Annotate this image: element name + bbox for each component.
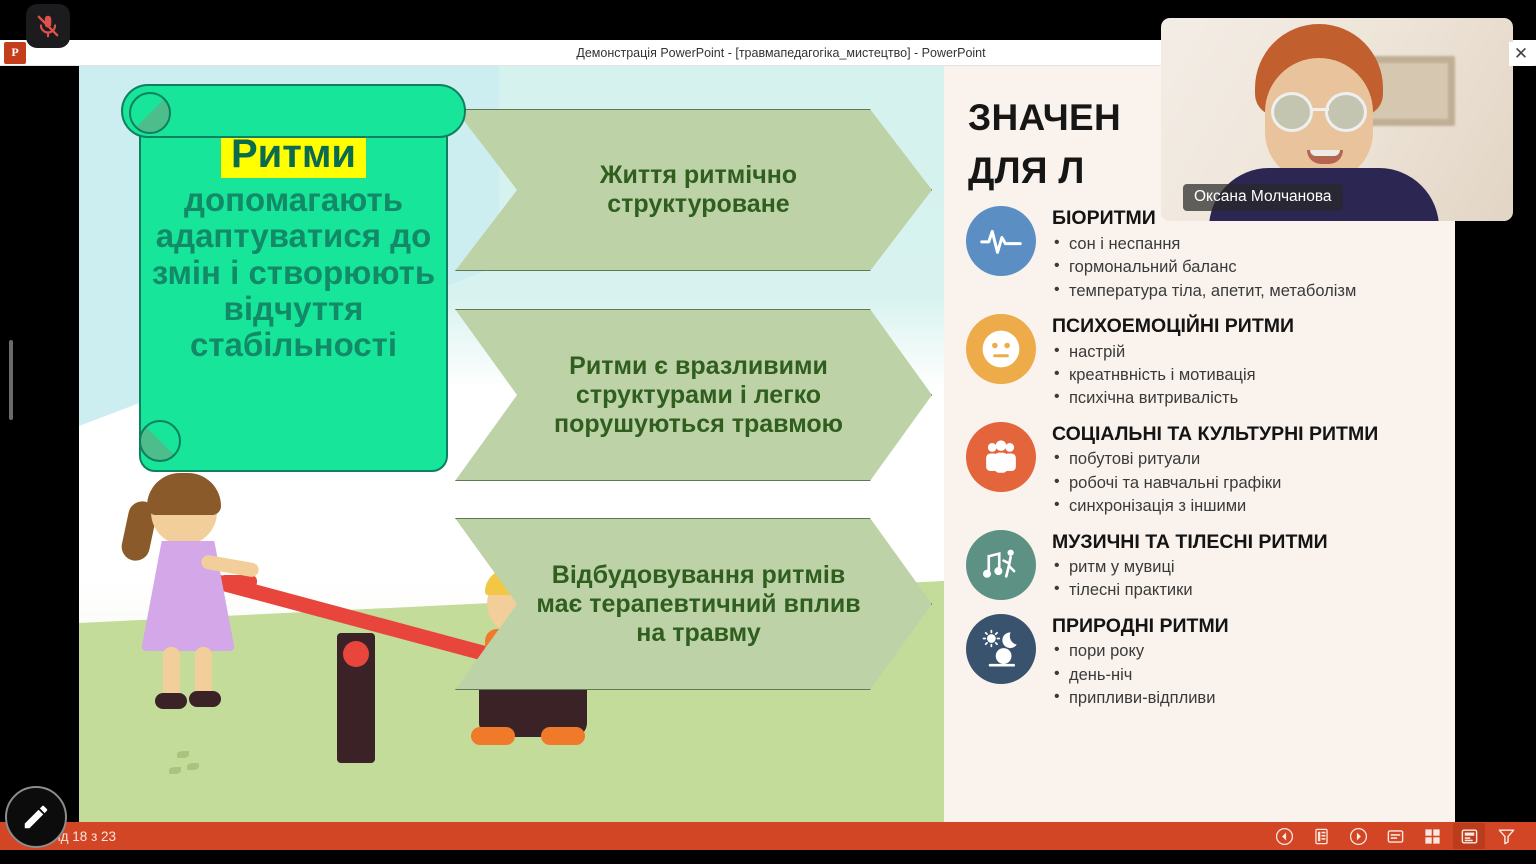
people-group-icon (966, 422, 1036, 492)
infographic-bullet: пори року (1052, 640, 1229, 663)
pen-menu-icon[interactable] (1305, 823, 1337, 849)
infographic-item-bioritmy: БІОРИТМИ сон і неспання гормональний бал… (944, 206, 1455, 314)
seesaw-pivot (343, 641, 369, 667)
infographic-bullet: тілесні практики (1052, 579, 1328, 602)
scroll-banner: Ритми допомагають адаптуватися до змін і… (121, 84, 466, 484)
previous-slide-button[interactable] (1268, 823, 1300, 849)
infographic-heading: МУЗИЧНІ ТА ТІЛЕСНІ РИТМИ (1052, 532, 1328, 553)
powerpoint-icon: P (4, 42, 26, 64)
participant-teeth (1310, 150, 1340, 156)
infographic-bullet: настрій (1052, 341, 1294, 364)
neutral-face-icon (966, 314, 1036, 384)
infographic-items: БІОРИТМИ сон і неспання гормональний бал… (944, 206, 1455, 721)
participant-name-label: Оксана Молчанова (1183, 184, 1343, 211)
infographic-item-social-cultural: СОЦІАЛЬНІ ТА КУЛЬТУРНІ РИТМИ побутові ри… (944, 422, 1455, 530)
chevron-arrow-3: Відбудовування ритмів має терапевтичний … (455, 518, 932, 690)
infographic-item-psychoemotional: ПСИХОЕМОЦІЙНІ РИТМИ настрій креатнвність… (944, 314, 1455, 422)
boy-shoe (541, 727, 585, 745)
microphone-muted-icon[interactable] (26, 4, 70, 48)
infographic-bullet: припливи-відпливи (1052, 687, 1229, 710)
chevron-arrow-2-text: Ритми є вразливими структурами і легко п… (536, 352, 861, 439)
magnify-slide-icon[interactable] (1453, 823, 1485, 849)
leaf-decoration (169, 767, 181, 774)
girl-leg (163, 647, 180, 699)
music-dance-icon (966, 530, 1036, 600)
infographic-heading: СОЦІАЛЬНІ ТА КУЛЬТУРНІ РИТМИ (1052, 424, 1378, 445)
girl-shoe (189, 691, 221, 707)
infographic-bullet: день-ніч (1052, 664, 1229, 687)
screen-root: P Демонстрація PowerPoint - [травмапедаг… (0, 0, 1536, 864)
scroll-banner-title: Ритми (221, 132, 366, 178)
infographic-bullet: синхронізація з іншими (1052, 495, 1378, 518)
slide-left-area: Життя ритмічно структуроване Ритми є вра… (79, 66, 944, 836)
infographic-bullet: ритм у мувиці (1052, 556, 1328, 579)
infographic-heading: ПСИХОЕМОЦІЙНІ РИТМИ (1052, 316, 1294, 337)
infographic-item-music-body: МУЗИЧНІ ТА ТІЛЕСНІ РИТМИ ритм у мувиці т… (944, 530, 1455, 614)
more-options-icon[interactable] (1490, 823, 1522, 849)
participant-glasses-left (1271, 92, 1313, 132)
presentation-status-bar: Слайд 18 з 23 (0, 822, 1536, 850)
pulse-icon (966, 206, 1036, 276)
chevron-arrow-3-text: Відбудовування ритмів має терапевтичний … (536, 561, 861, 648)
scroll-handle[interactable] (9, 340, 13, 420)
chevron-arrow-1: Життя ритмічно структуроване (455, 109, 932, 271)
leaf-decoration (187, 763, 199, 770)
pen-icon[interactable] (5, 786, 67, 848)
leaf-decoration (177, 751, 189, 758)
close-icon[interactable]: ✕ (1509, 42, 1533, 66)
webcam-video-tile[interactable]: Оксана Молчанова (1161, 18, 1513, 221)
sun-moon-tree-icon (966, 614, 1036, 684)
boy-shoe (471, 727, 515, 745)
infographic-bullet: побутові ритуали (1052, 448, 1378, 471)
taskbar-strip (0, 850, 1536, 864)
infographic-item-natural: ПРИРОДНІ РИТМИ пори року день-ніч припли… (944, 614, 1455, 722)
chevron-arrow-2: Ритми є вразливими структурами і легко п… (455, 309, 932, 481)
infographic-bullet: гормональний баланс (1052, 256, 1356, 279)
scroll-curl-top-left (129, 92, 171, 134)
scroll-curl-bottom-left (139, 420, 181, 462)
scroll-banner-top-roll (121, 84, 466, 138)
grid-icon[interactable] (1416, 823, 1448, 849)
infographic-bullet: робочі та навчальні графіки (1052, 472, 1378, 495)
infographic-bullet: температура тіла, апетит, метаболізм (1052, 280, 1356, 303)
scroll-banner-body: Ритми допомагають адаптуватися до змін і… (139, 112, 448, 472)
presentation-toolbar (1268, 823, 1536, 849)
infographic-bullet: психічна витривалість (1052, 387, 1294, 410)
chevron-arrow-1-text: Життя ритмічно структуроване (536, 161, 861, 219)
participant-glasses-bridge (1311, 108, 1329, 111)
infographic-bullet: креатнвність і мотивація (1052, 364, 1294, 387)
next-slide-button[interactable] (1342, 823, 1374, 849)
girl-shoe (155, 693, 187, 709)
infographic-heading: ПРИРОДНІ РИТМИ (1052, 616, 1229, 637)
infographic-bullet: сон і неспання (1052, 233, 1356, 256)
participant-glasses-right (1325, 92, 1367, 132)
scroll-banner-text: допомагають адаптуватися до змін і створ… (151, 182, 436, 363)
subtitles-icon[interactable] (1379, 823, 1411, 849)
